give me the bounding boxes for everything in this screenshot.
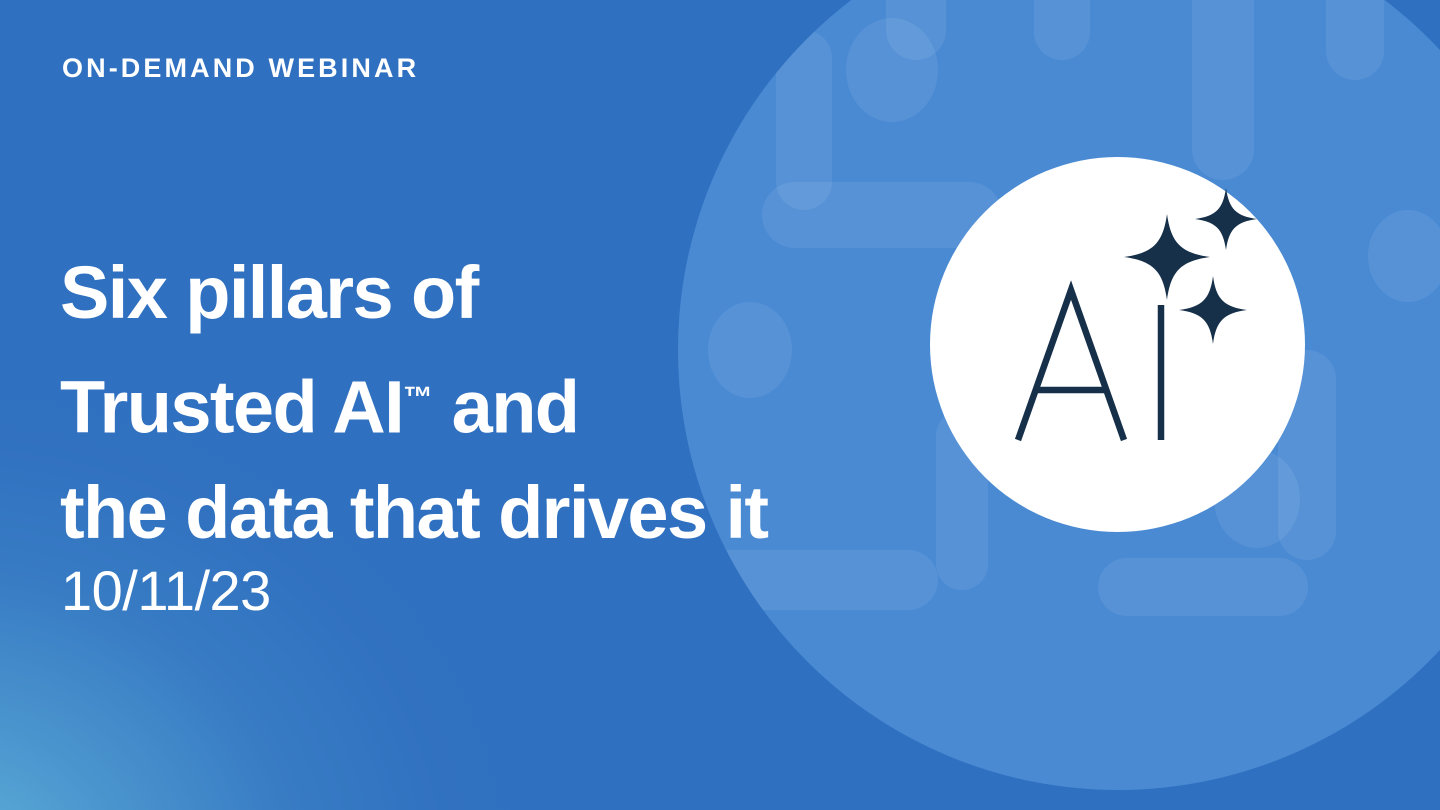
ai-logo-badge — [930, 157, 1305, 532]
trademark-icon: ™ — [403, 381, 433, 414]
text-column: ON-DEMAND WEBINAR Six pillars of Trusted… — [60, 0, 920, 810]
ai-sparkle-icon — [930, 157, 1305, 532]
page-title: Six pillars of Trusted AI™ and the data … — [60, 240, 767, 565]
event-date: 10/11/23 — [61, 562, 271, 621]
headline-line-2: Trusted AI™ and — [60, 345, 767, 460]
promo-banner: ON-DEMAND WEBINAR Six pillars of Trusted… — [0, 0, 1440, 810]
headline-line-3: the data that drives it — [60, 460, 767, 565]
eyebrow-label: ON-DEMAND WEBINAR — [62, 55, 419, 82]
headline-line-1: Six pillars of — [60, 240, 767, 345]
